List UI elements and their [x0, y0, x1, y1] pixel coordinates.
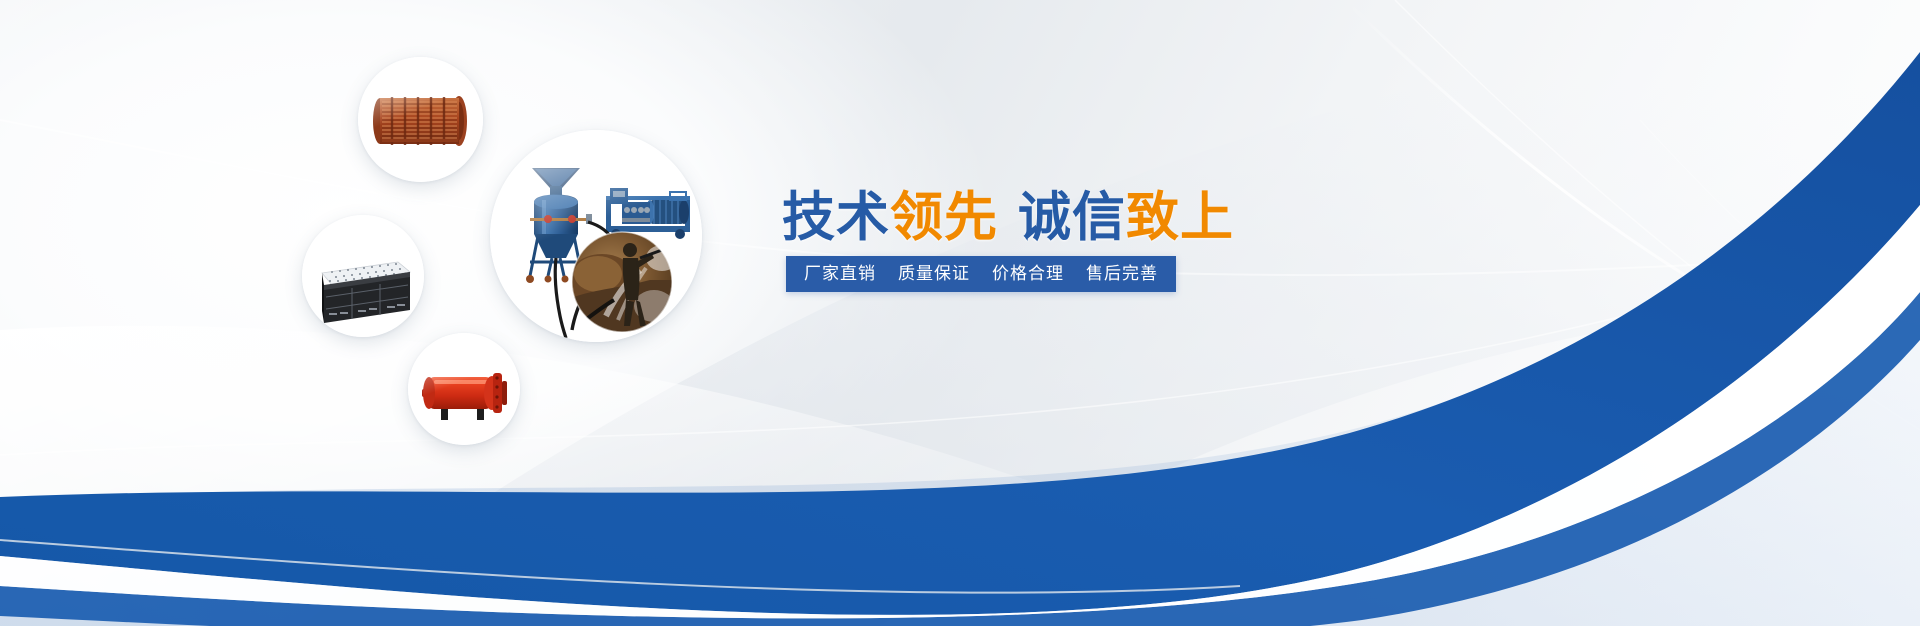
- tagline-item-3: 价格合理: [992, 264, 1064, 284]
- promotional-banner: 技术领先诚信致上 厂家直销质量保证价格合理售后完善: [0, 0, 1920, 626]
- headline-segment-1: 技术: [782, 187, 890, 248]
- tagline-item-1: 厂家直销: [804, 264, 876, 284]
- copper-tube-bundle-icon: [358, 57, 483, 182]
- product-circle-tube-bundle: [358, 57, 483, 182]
- headline-segment-4: 致上: [1126, 187, 1234, 248]
- tube-sheet-plate-icon: [302, 215, 424, 337]
- tagline-item-2: 质量保证: [898, 264, 970, 284]
- tagline-item-4: 售后完善: [1086, 264, 1158, 284]
- red-pressure-vessel-icon: [408, 333, 520, 445]
- product-circle-tube-sheet: [302, 215, 424, 337]
- sandblasting-and-pump-unit-icon: [490, 130, 702, 342]
- background-swoosh-artwork: [0, 0, 1920, 626]
- product-circle-blasting-unit: [490, 130, 702, 342]
- headline-segment-3: 诚信: [1018, 187, 1126, 248]
- page-title: 技术领先诚信致上: [782, 186, 1234, 250]
- tagline-bar: 厂家直销质量保证价格合理售后完善: [786, 256, 1176, 292]
- headline-segment-2: 领先: [890, 187, 998, 248]
- product-circle-pressure-vessel: [408, 333, 520, 445]
